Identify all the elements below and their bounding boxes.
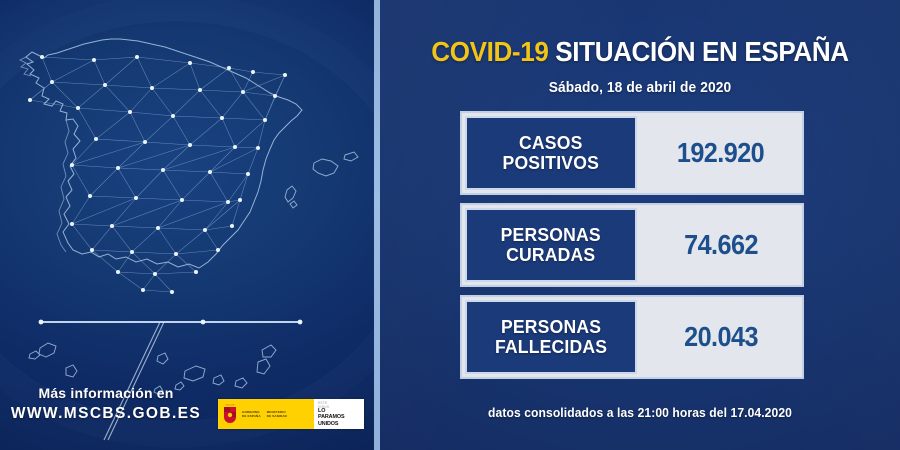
stat-label-cell: PERSONAS FALLECIDAS: [465, 300, 637, 374]
coat-of-arms-icon: [222, 404, 238, 424]
stat-label-cell: PERSONAS CURADAS: [465, 208, 637, 282]
stat-value: 192.920: [677, 137, 764, 169]
balearic-islands: [285, 152, 358, 208]
more-info-label: Más información en: [0, 385, 212, 402]
table-row: CASOS POSITIVOS 192.920: [460, 111, 804, 195]
page-title: COVID-19 SITUACIÓN EN ESPAÑA: [398, 36, 882, 68]
stat-value-cell: 20.043: [640, 297, 802, 377]
map-panel: Más información en WWW.MSCBS.GOB.ES GOBI…: [0, 0, 374, 450]
stat-label: CASOS POSITIVOS: [503, 133, 599, 173]
more-info-block: Más información en WWW.MSCBS.GOB.ES: [0, 385, 212, 424]
government-of-spain-logo: GOBIERNO DE ESPAÑA MINISTERIO DE SANIDAD: [218, 399, 314, 429]
stat-label: PERSONAS FALLECIDAS: [495, 317, 607, 357]
gobierno-de-espana-text: GOBIERNO DE ESPAÑA: [242, 410, 261, 418]
stat-label-cell: CASOS POSITIVOS: [465, 116, 637, 190]
campaign-logo: ESTE VIRUS LO PARAMOS UNIDOS: [314, 399, 364, 429]
data-footnote: datos consolidados a las 21:00 horas del…: [390, 406, 889, 420]
stat-value-cell: 74.662: [640, 205, 802, 285]
network-nodes: [28, 55, 287, 294]
stat-value-cell: 192.920: [640, 113, 802, 193]
title-rest: SITUACIÓN EN ESPAÑA: [548, 36, 848, 67]
stat-label: PERSONAS CURADAS: [501, 225, 601, 265]
stats-panel: COVID-19 SITUACIÓN EN ESPAÑA Sábado, 18 …: [380, 0, 900, 450]
website-url[interactable]: WWW.MSCBS.GOB.ES: [0, 404, 212, 424]
logo-strip: GOBIERNO DE ESPAÑA MINISTERIO DE SANIDAD…: [218, 399, 364, 429]
report-date: Sábado, 18 de abril de 2020: [393, 80, 887, 96]
government-logo-texts: GOBIERNO DE ESPAÑA MINISTERIO DE SANIDAD: [242, 410, 287, 418]
covid-spain-infographic: Más información en WWW.MSCBS.GOB.ES GOBI…: [0, 0, 900, 450]
title-covid-highlight: COVID-19: [431, 36, 548, 67]
stat-value: 20.043: [684, 321, 758, 353]
table-row: PERSONAS FALLECIDAS 20.043: [460, 295, 804, 379]
stat-value: 74.662: [684, 229, 758, 261]
spain-network-map: [0, 0, 374, 450]
stats-table: CASOS POSITIVOS 192.920 PERSONAS CURADAS…: [460, 111, 804, 379]
table-row: PERSONAS CURADAS 74.662: [460, 203, 804, 287]
ministerio-de-sanidad-text: MINISTERIO DE SANIDAD: [267, 410, 287, 418]
